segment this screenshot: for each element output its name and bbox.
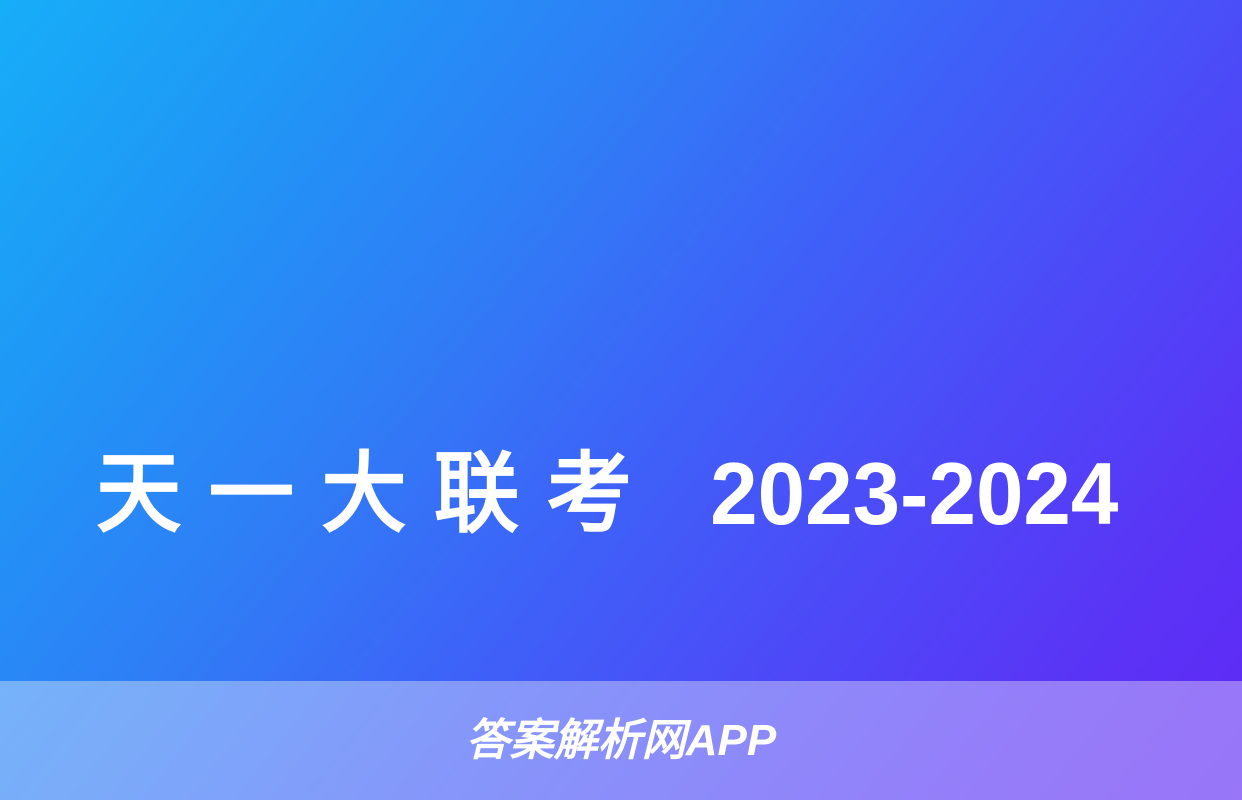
title-line-1: 天一大联考 2023-2024 [96, 416, 1118, 572]
poster-canvas: 天一大联考 2023-2024 学年(下)安徽高二5月份 阶段性检测试卷及答案答… [0, 0, 1242, 800]
app-watermark-label: 答案解析网APP [0, 719, 1242, 763]
footer-watermark-band: 答案解析网APP [0, 681, 1242, 800]
